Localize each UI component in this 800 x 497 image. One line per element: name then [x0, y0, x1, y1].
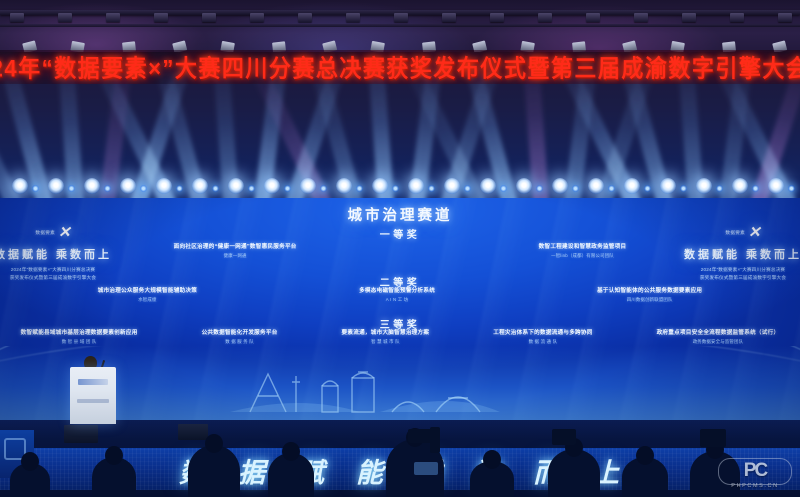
- truss-hanger: [154, 13, 168, 22]
- podium-text: [77, 399, 109, 403]
- phone-screen: [414, 462, 438, 475]
- stage-lamp-small: [788, 185, 795, 192]
- audience-head: [21, 452, 39, 471]
- led-vignette: [0, 198, 800, 420]
- stage-lamp: [48, 178, 64, 194]
- event-top-banner: 24年“数据要素×”大赛四川分赛总决赛获奖发布仪式暨第三届成渝数字引擎大会: [0, 50, 800, 84]
- podium-logo: [78, 379, 108, 385]
- truss-hanger: [634, 13, 648, 22]
- stage-lamp: [516, 178, 532, 194]
- truss-hanger: [586, 13, 600, 22]
- stage-lamp: [444, 178, 460, 194]
- stage-lamp-small: [248, 185, 255, 192]
- stage-lamp: [624, 178, 640, 194]
- stage-lamp-small: [284, 185, 291, 192]
- stage-lamp-small: [356, 185, 363, 192]
- stage-lamp: [552, 178, 568, 194]
- stage-lamp-small: [140, 185, 147, 192]
- event-title-text: 24年“数据要素×”大赛四川分赛总决赛获奖发布仪式暨第三届成渝数字引擎大会: [0, 50, 800, 84]
- watermark-border: [718, 458, 792, 485]
- truss-hanger: [778, 13, 792, 22]
- truss-hanger: [106, 13, 120, 22]
- stage-lamp-small: [536, 185, 543, 192]
- truss-hanger: [490, 13, 504, 22]
- stage-lamp-small: [680, 185, 687, 192]
- ceiling-truss: [0, 0, 800, 56]
- stage-lamp-small: [104, 185, 111, 192]
- floor-speaker-box-mid: [178, 424, 208, 440]
- audience-head: [483, 450, 501, 469]
- stage-lamp: [156, 178, 172, 194]
- stage-lamp: [408, 178, 424, 194]
- video-camera: [700, 429, 726, 447]
- stage-lamp-small: [644, 185, 651, 192]
- truss-hanger: [682, 13, 696, 22]
- stage-lamp-small: [212, 185, 219, 192]
- audience-head: [636, 446, 654, 465]
- stage-lamp-small: [176, 185, 183, 192]
- stage-lamp: [732, 178, 748, 194]
- watermark: PC PHPCMS.CN: [716, 455, 794, 493]
- stage-lamp: [264, 178, 280, 194]
- video-camera: [430, 427, 440, 453]
- stage-lamp-small: [752, 185, 759, 192]
- stage-lamp: [660, 178, 676, 194]
- truss-hanger: [298, 13, 312, 22]
- stage-lamp-small: [500, 185, 507, 192]
- video-camera: [552, 429, 576, 445]
- stage-lamp: [480, 178, 496, 194]
- stage-lamp-small: [572, 185, 579, 192]
- truss-hanger: [202, 13, 216, 22]
- truss-hanger: [346, 13, 360, 22]
- audience-head: [282, 442, 300, 461]
- stage-lamp: [372, 178, 388, 194]
- truss-hanger: [10, 13, 24, 22]
- truss-hanger: [58, 13, 72, 22]
- truss-hanger: [538, 13, 552, 22]
- stage-lamp-small: [320, 185, 327, 192]
- stage-lamp-small: [608, 185, 615, 192]
- stage-lamp: [300, 178, 316, 194]
- stage-lamp: [768, 178, 784, 194]
- stage-lamp: [588, 178, 604, 194]
- main-led-screen: 城市治理赛道 数据要素 ✕ 数据赋能 乘数而上 2024年“数据要素×”大赛四川…: [0, 198, 800, 420]
- stage-lamp-small: [464, 185, 471, 192]
- audience-head: [205, 434, 223, 453]
- stage-lamp: [228, 178, 244, 194]
- stage-lamp-small: [32, 185, 39, 192]
- stage-photo: 24年“数据要素×”大赛四川分赛总决赛获奖发布仪式暨第三届成渝数字引擎大会 城市…: [0, 0, 800, 497]
- floor-speaker-box-left: [64, 425, 98, 443]
- truss-hanger: [394, 13, 408, 22]
- podium: [70, 367, 116, 424]
- stage-lamp-small: [428, 185, 435, 192]
- stage-lamp: [336, 178, 352, 194]
- stage-lamp-small: [68, 185, 75, 192]
- truss-hanger: [730, 13, 744, 22]
- audience-head: [105, 446, 123, 465]
- stage-lamp: [192, 178, 208, 194]
- stage-lamp: [696, 178, 712, 194]
- truss-bar-lower: [0, 24, 800, 27]
- stage-lamp: [120, 178, 136, 194]
- stage-lamp: [84, 178, 100, 194]
- stage-lamp-small: [392, 185, 399, 192]
- stage-lamp-small: [716, 185, 723, 192]
- truss-hanger: [250, 13, 264, 22]
- calligraphy-char: 据: [238, 451, 267, 490]
- stage-lamp: [12, 178, 28, 194]
- calligraphy-char: 能: [356, 451, 385, 490]
- truss-hanger: [442, 13, 456, 22]
